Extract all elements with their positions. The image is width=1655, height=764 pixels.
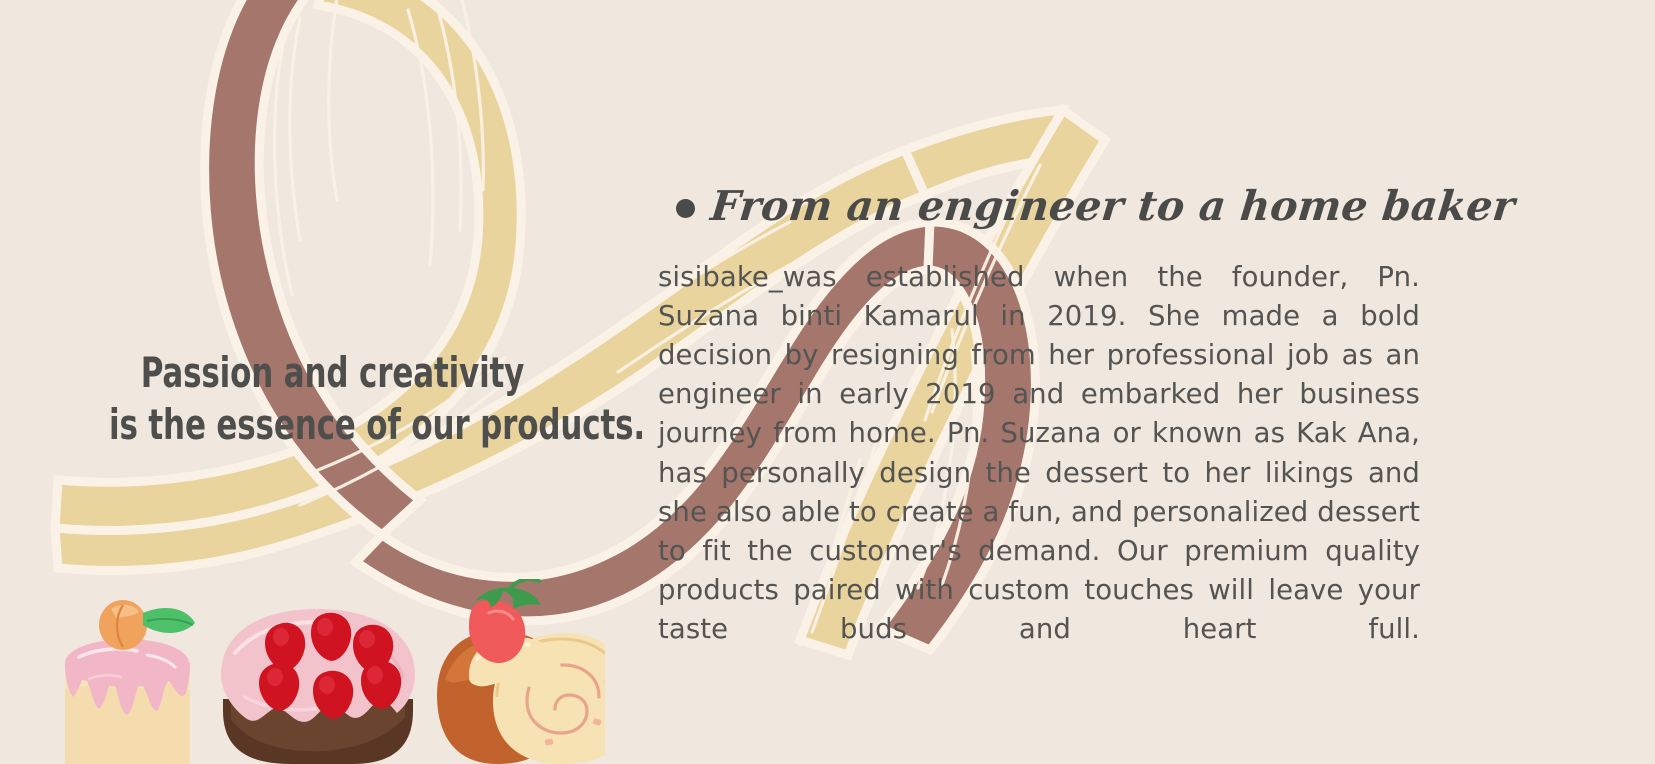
tagline-line-1: Passion and creativity [109,347,556,399]
about-heading: From an engineer to a home baker [708,182,1517,230]
about-paragraph: sisibake_was established when the founde… [658,258,1420,689]
strawberry-swiss-roll [437,579,605,764]
strawberry-chocolate-cake [221,609,415,764]
about-content: From an engineer to a home baker sisibak… [658,182,1420,716]
about-heading-row: From an engineer to a home baker [658,182,1420,230]
bullet-dot-icon [676,199,695,218]
cake-illustrations [45,579,605,764]
tagline-block: Passion and creativity is the essence of… [109,347,556,451]
about-us-slide: Passion and creativity is the essence of… [0,0,1655,764]
tagline-line-2: is the essence of our products. [109,399,556,451]
pink-glazed-cake-with-peach [65,600,195,764]
